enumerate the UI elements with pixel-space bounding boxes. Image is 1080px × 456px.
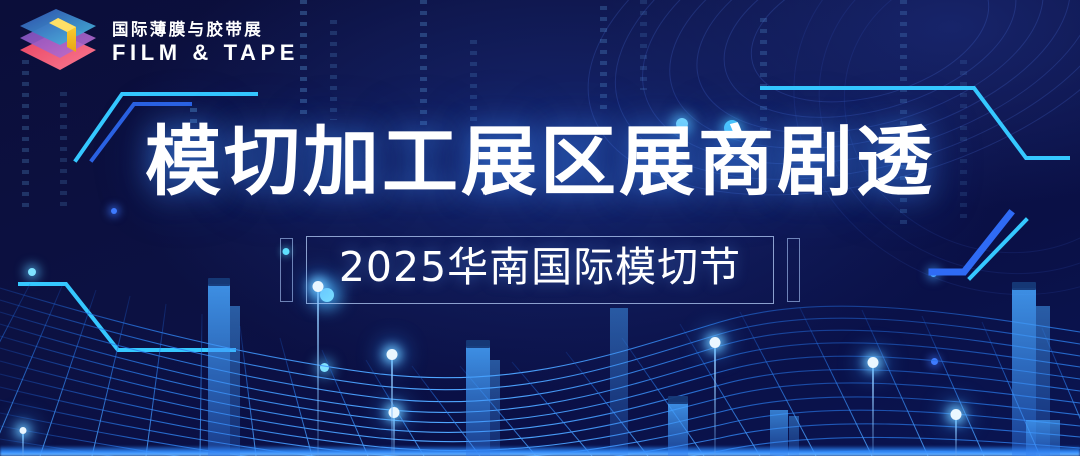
horizon-glow [0, 446, 1080, 456]
event-promo-banner: 国际薄膜与胶带展 FILM & TAPE 模切加工展区展商剧透 2025华南国际… [0, 0, 1080, 456]
data-stream-3 [300, 0, 307, 120]
film-tape-layers-logo-icon [14, 6, 102, 76]
data-stream-4 [330, 20, 337, 120]
logo-english-name: FILM & TAPE [112, 42, 299, 64]
logo-chinese-name: 国际薄膜与胶带展 [112, 22, 299, 39]
data-stream-5 [420, 0, 427, 135]
logo-text: 国际薄膜与胶带展 FILM & TAPE [112, 18, 299, 64]
wireframe-landscape [0, 266, 1080, 456]
subtitle-tick-dot-icon [283, 248, 290, 255]
data-stream-7 [600, 6, 607, 116]
glow-orb-4 [111, 208, 117, 214]
data-stream-8 [640, 0, 647, 90]
logo[interactable]: 国际薄膜与胶带展 FILM & TAPE [14, 6, 299, 76]
page-title: 模切加工展区展商剧透 [0, 124, 1080, 200]
